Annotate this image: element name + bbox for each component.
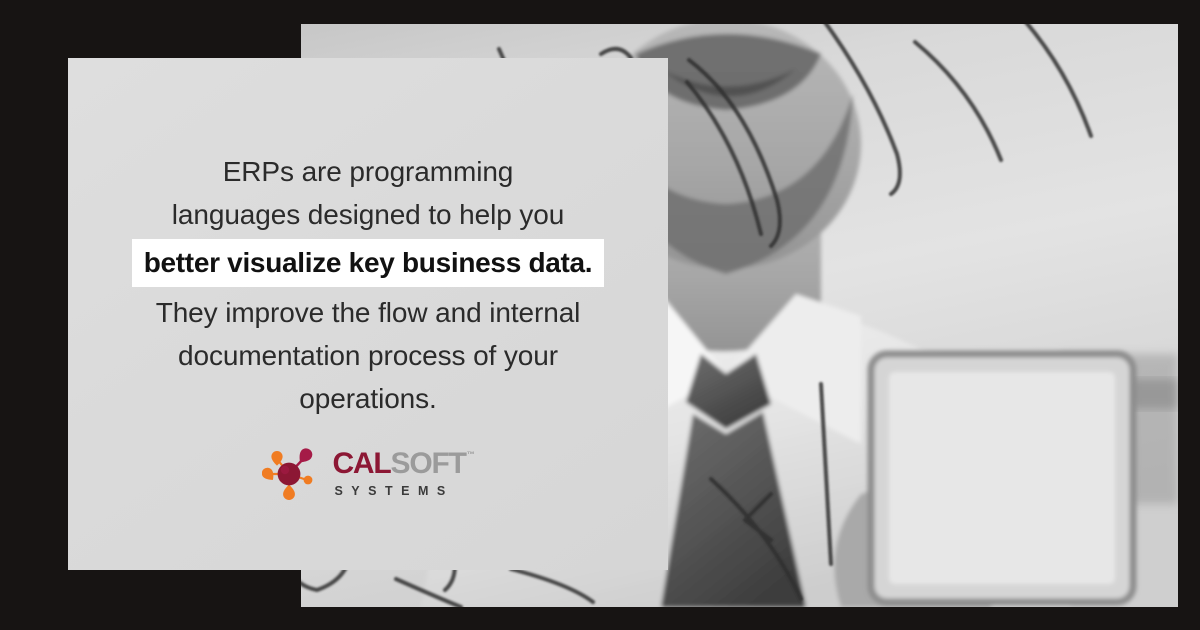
quote-line-6: operations. — [68, 377, 668, 420]
quote-text-block: ERPs are programming languages designed … — [68, 150, 668, 420]
quote-line-1: ERPs are programming — [68, 150, 668, 193]
logo-word-soft: SOFT — [391, 449, 466, 479]
quote-card: ERPs are programming languages designed … — [68, 58, 668, 570]
quote-highlight-text: better visualize key business data. — [132, 239, 605, 287]
logo-word-cal: CAL — [332, 449, 390, 479]
trademark-symbol: ™ — [467, 451, 474, 459]
calsoft-systems-logo: CAL SOFT ™ SYSTEMS — [68, 446, 668, 500]
logo-wordmark-block: CAL SOFT ™ SYSTEMS — [332, 449, 473, 498]
logo-wordmark: CAL SOFT ™ — [332, 449, 473, 479]
molecule-icon — [262, 446, 318, 500]
quote-line-4: They improve the flow and internal — [68, 291, 668, 334]
logo-tagline: SYSTEMS — [332, 485, 473, 498]
quote-line-2: languages designed to help you — [68, 193, 668, 236]
quote-line-5: documentation process of your — [68, 334, 668, 377]
slide-canvas: ERPs are programming languages designed … — [0, 0, 1200, 630]
quote-highlight-row: better visualize key business data. — [68, 239, 668, 287]
